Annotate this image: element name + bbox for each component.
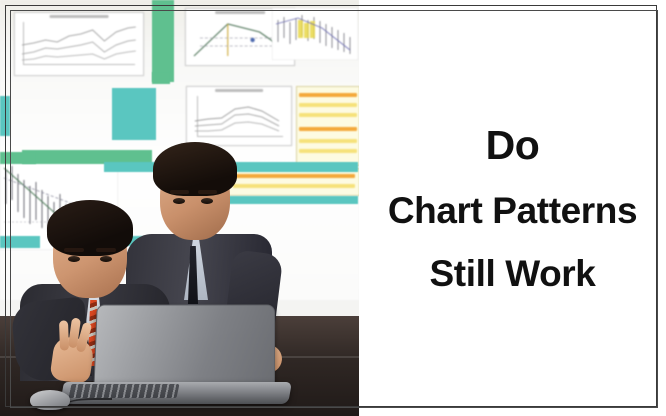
quote-table bbox=[296, 86, 359, 166]
candlestick-chart-right bbox=[272, 8, 358, 60]
eye-right bbox=[201, 198, 213, 204]
chart-axis-x bbox=[23, 64, 135, 65]
eye-right bbox=[100, 256, 112, 262]
accent-block-teal-large bbox=[112, 88, 156, 140]
mouse-cable bbox=[66, 398, 112, 409]
quote-row bbox=[299, 103, 357, 107]
accent-block-green-small bbox=[152, 72, 170, 84]
headline-panel: Do Chart Patterns Still Work bbox=[359, 0, 666, 416]
laptop-keyboard bbox=[69, 384, 180, 398]
quote-row bbox=[299, 93, 357, 97]
eyebrow-left bbox=[170, 190, 189, 194]
computer-mouse bbox=[30, 390, 70, 410]
laptop-lid bbox=[93, 305, 275, 395]
arm-raised bbox=[10, 296, 92, 383]
accent-block-green-edge bbox=[0, 96, 10, 136]
quote-row bbox=[299, 127, 357, 131]
accent-block-green-tall bbox=[152, 0, 174, 82]
finger bbox=[59, 320, 69, 350]
chart-series-group bbox=[191, 97, 287, 135]
photo-collage bbox=[0, 0, 359, 416]
headline-line-3: Still Work bbox=[430, 255, 596, 292]
eyebrow-right bbox=[96, 248, 116, 252]
line-chart-top bbox=[14, 12, 144, 76]
quote-row bbox=[299, 113, 357, 117]
line-chart-mid bbox=[186, 86, 292, 146]
quote-row bbox=[299, 149, 357, 153]
chart-title-bar bbox=[215, 89, 263, 92]
quote-row bbox=[299, 139, 357, 143]
eyebrow-left bbox=[64, 248, 84, 252]
eye-left bbox=[173, 198, 185, 204]
chart-series-group bbox=[20, 23, 138, 63]
chart-axis-x bbox=[197, 136, 283, 137]
eye-left bbox=[68, 256, 80, 262]
hair bbox=[153, 142, 237, 196]
chart-title-bar bbox=[215, 11, 265, 14]
eyebrow-right bbox=[198, 190, 217, 194]
accent-block-green-left bbox=[0, 152, 36, 164]
hand-on-forehead bbox=[49, 335, 95, 384]
chart-title-bar bbox=[50, 15, 109, 18]
headline-line-2: Chart Patterns bbox=[388, 192, 637, 229]
poster-canvas: Do Chart Patterns Still Work bbox=[0, 0, 666, 416]
headline-line-1: Do bbox=[486, 125, 540, 166]
hair bbox=[47, 200, 133, 256]
